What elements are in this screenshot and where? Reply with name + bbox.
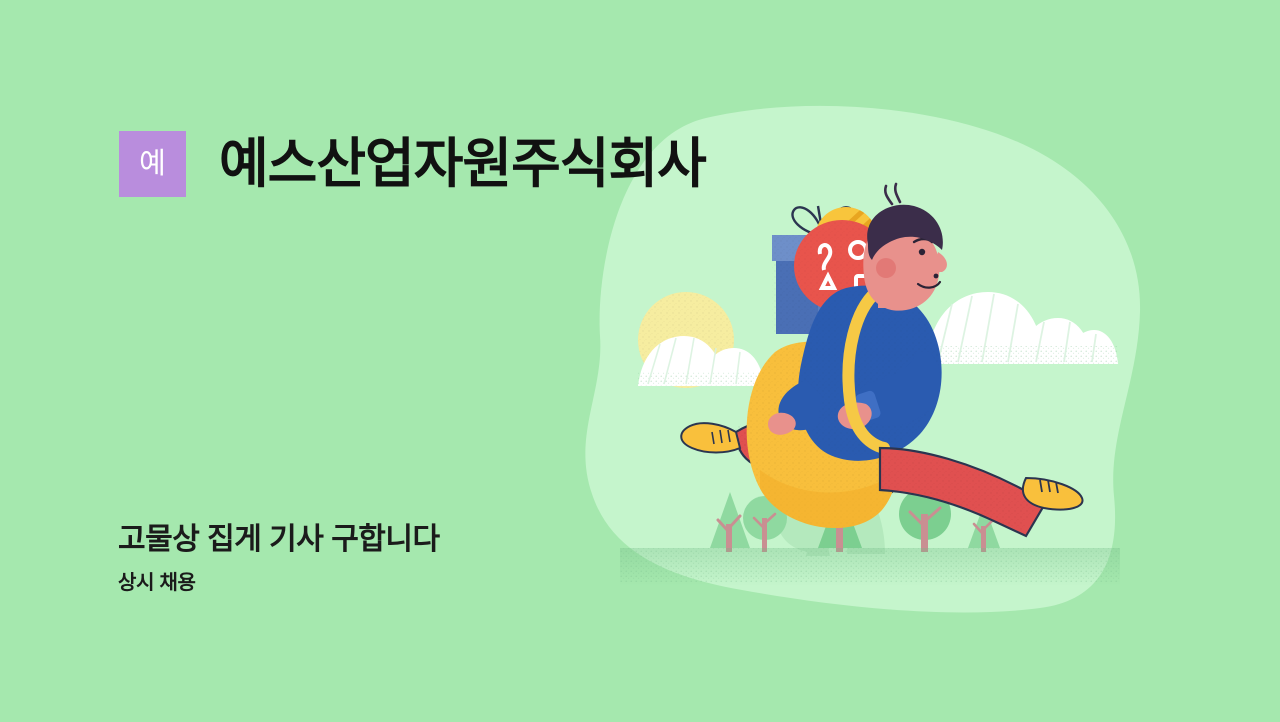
- job-info-block: 고물상 집게 기사 구합니다 상시 채용: [118, 521, 440, 595]
- employment-status: 상시 채용: [118, 571, 440, 595]
- illustration-running-man-with-gift-sack: [0, 0, 1280, 722]
- ground-texture: [620, 548, 1120, 586]
- company-name: 예스산업자원주식회사: [219, 137, 706, 191]
- job-title: 고물상 집게 기사 구합니다: [118, 521, 440, 559]
- company-badge: 예: [119, 131, 186, 197]
- company-header: 예 예스산업자원주식회사: [119, 131, 706, 197]
- job-posting-card: 예 예스산업자원주식회사 고물상 집게 기사 구합니다 상시 채용: [0, 0, 1280, 722]
